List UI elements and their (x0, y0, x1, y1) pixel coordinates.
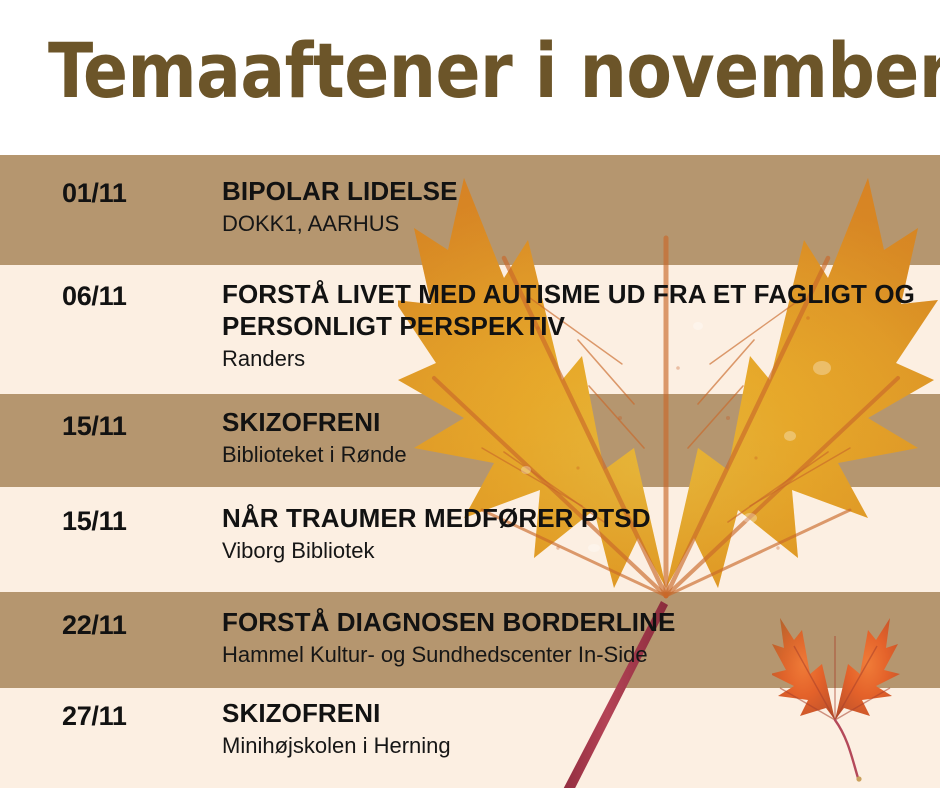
entry-title: FORSTÅ DIAGNOSEN BORDERLINE (222, 606, 922, 638)
entry-date: 01/11 (62, 178, 127, 209)
page-title: Temaaftener i november (48, 28, 940, 114)
entry-title: SKIZOFRENI (222, 406, 922, 438)
entry-body: SKIZOFRENIMinihøjskolen i Herning (222, 697, 922, 761)
entry-date: 15/11 (62, 411, 127, 442)
entry-location: Biblioteket i Rønde (222, 440, 922, 470)
entry-body: SKIZOFRENIBiblioteket i Rønde (222, 406, 922, 470)
entry-date: 27/11 (62, 701, 127, 732)
entry-location: Randers (222, 344, 922, 374)
entry-location: Hammel Kultur- og Sundhedscenter In-Side (222, 640, 922, 670)
entry-body: NÅR TRAUMER MEDFØRER PTSDViborg Bibliote… (222, 502, 922, 566)
entry-body: BIPOLAR LIDELSEDOKK1, AARHUS (222, 175, 922, 239)
entry-title: FORSTÅ LIVET MED AUTISME UD FRA ET FAGLI… (222, 278, 922, 342)
poster-header: Temaaftener i november (0, 0, 940, 155)
entry-title: NÅR TRAUMER MEDFØRER PTSD (222, 502, 922, 534)
entry-title: BIPOLAR LIDELSE (222, 175, 922, 207)
entry-date: 22/11 (62, 610, 127, 641)
entry-location: DOKK1, AARHUS (222, 209, 922, 239)
entry-location: Minihøjskolen i Herning (222, 731, 922, 761)
entry-date: 06/11 (62, 281, 127, 312)
entry-date: 15/11 (62, 506, 127, 537)
entry-body: FORSTÅ DIAGNOSEN BORDERLINEHammel Kultur… (222, 606, 922, 670)
entry-body: FORSTÅ LIVET MED AUTISME UD FRA ET FAGLI… (222, 278, 922, 374)
poster-canvas: Temaaftener i november 01/11BIPOLAR LIDE… (0, 0, 940, 788)
entry-location: Viborg Bibliotek (222, 536, 922, 566)
entry-title: SKIZOFRENI (222, 697, 922, 729)
